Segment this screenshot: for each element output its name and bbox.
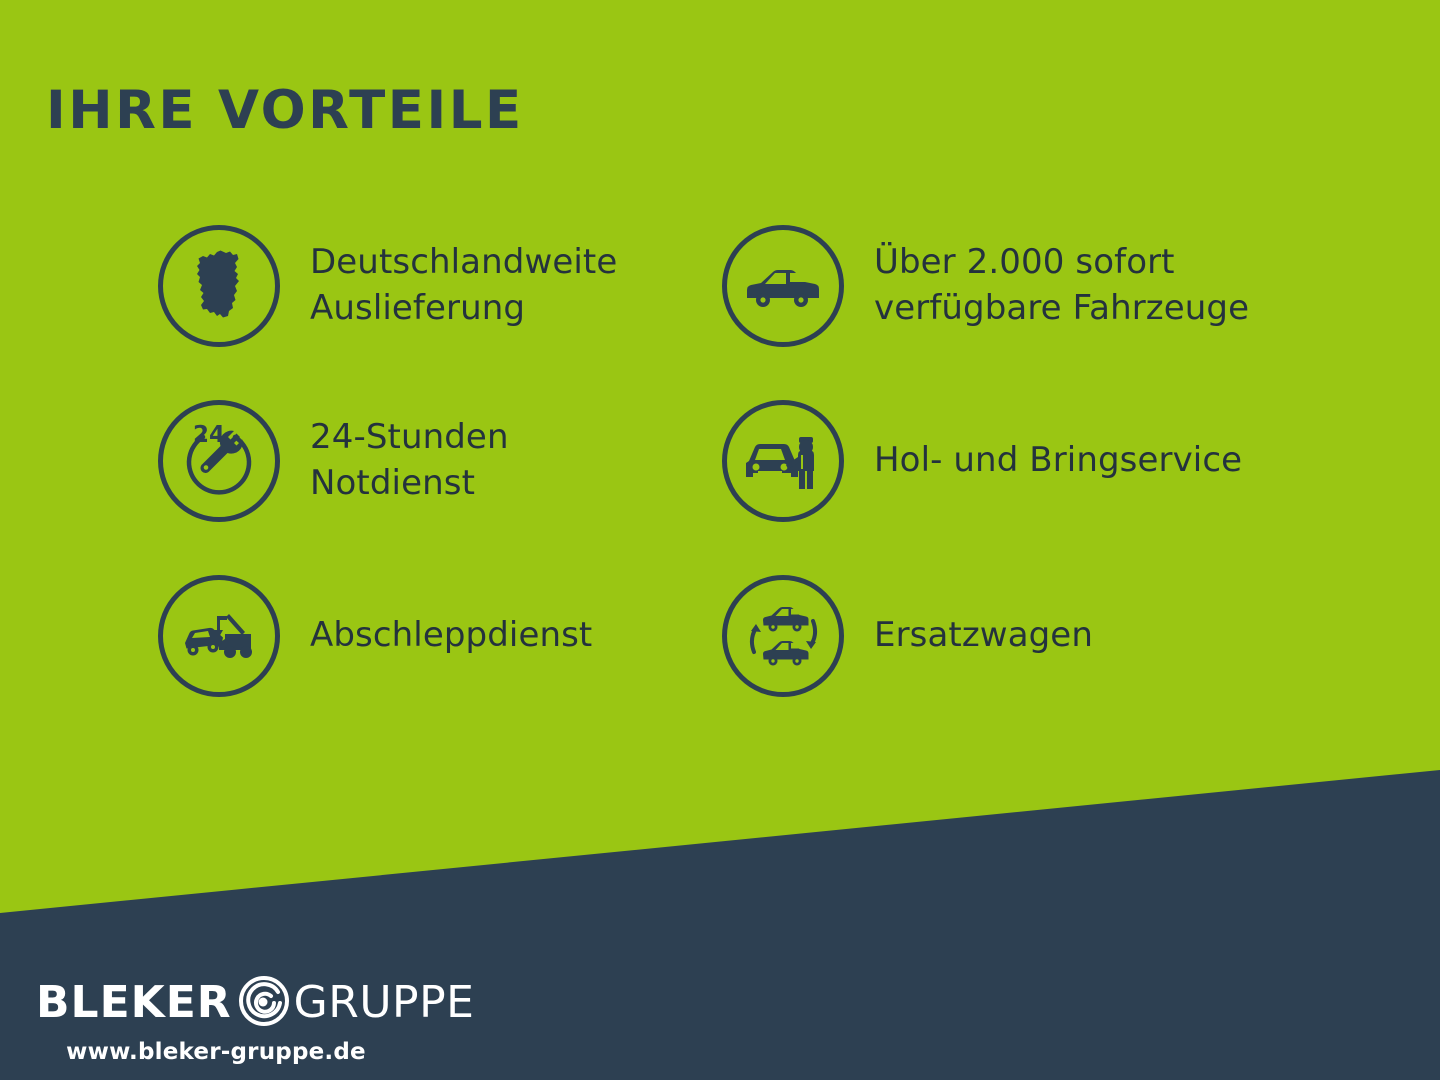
tow-truck-icon bbox=[158, 575, 280, 697]
logo-brand-primary: BLEKER bbox=[36, 981, 232, 1025]
24-hour-wrench-icon: 24 bbox=[158, 400, 280, 522]
benefit-item-24-stunden-notdienst: 24 24-Stunden Notdienst bbox=[158, 400, 718, 522]
benefit-item-verfuegbare-fahrzeuge: Über 2.000 sofort verfügbare Fahrzeuge bbox=[722, 225, 1362, 347]
car-with-driver-icon bbox=[722, 400, 844, 522]
benefit-label-line: 24-Stunden bbox=[310, 415, 509, 461]
car-side-icon bbox=[722, 225, 844, 347]
website-url: www.bleker-gruppe.de bbox=[36, 1039, 396, 1065]
logo-wordmark: BLEKER GRUPPE bbox=[36, 975, 456, 1031]
benefit-label-line: Deutschlandweite bbox=[310, 240, 617, 286]
benefit-label: Abschleppdienst bbox=[310, 613, 592, 659]
benefit-label-line: Notdienst bbox=[310, 461, 509, 507]
logo-brand-secondary: GRUPPE bbox=[294, 981, 475, 1025]
benefit-label: Deutschlandweite Auslieferung bbox=[310, 240, 617, 331]
brand-logo: BLEKER GRUPPE www.bleker-gruppe.de bbox=[36, 975, 456, 1065]
benefit-label-line: Hol- und Bringservice bbox=[874, 438, 1242, 484]
benefit-label-line: Abschleppdienst bbox=[310, 613, 592, 659]
benefit-label-line: Über 2.000 sofort bbox=[874, 240, 1249, 286]
benefit-label-line: Auslieferung bbox=[310, 286, 617, 332]
benefit-label-line: verfügbare Fahrzeuge bbox=[874, 286, 1249, 332]
benefit-label-line: Ersatzwagen bbox=[874, 613, 1093, 659]
benefit-label: Ersatzwagen bbox=[874, 613, 1093, 659]
germany-map-icon bbox=[158, 225, 280, 347]
benefit-label: 24-Stunden Notdienst bbox=[310, 415, 509, 506]
slide-root: IHRE VORTEILE Deutschlandweite Ausliefer… bbox=[0, 0, 1440, 1080]
benefit-label: Hol- und Bringservice bbox=[874, 438, 1242, 484]
benefit-item-deutschlandweite-auslieferung: Deutschlandweite Auslieferung bbox=[158, 225, 718, 347]
benefit-item-abschleppdienst: Abschleppdienst bbox=[158, 575, 718, 697]
spiral-icon bbox=[233, 971, 293, 1035]
car-swap-icon bbox=[722, 575, 844, 697]
benefit-item-hol-und-bringservice: Hol- und Bringservice bbox=[722, 400, 1362, 522]
green-background-panel bbox=[0, 0, 1440, 1080]
benefit-item-ersatzwagen: Ersatzwagen bbox=[722, 575, 1362, 697]
benefit-label: Über 2.000 sofort verfügbare Fahrzeuge bbox=[874, 240, 1249, 331]
page-title: IHRE VORTEILE bbox=[46, 84, 524, 137]
